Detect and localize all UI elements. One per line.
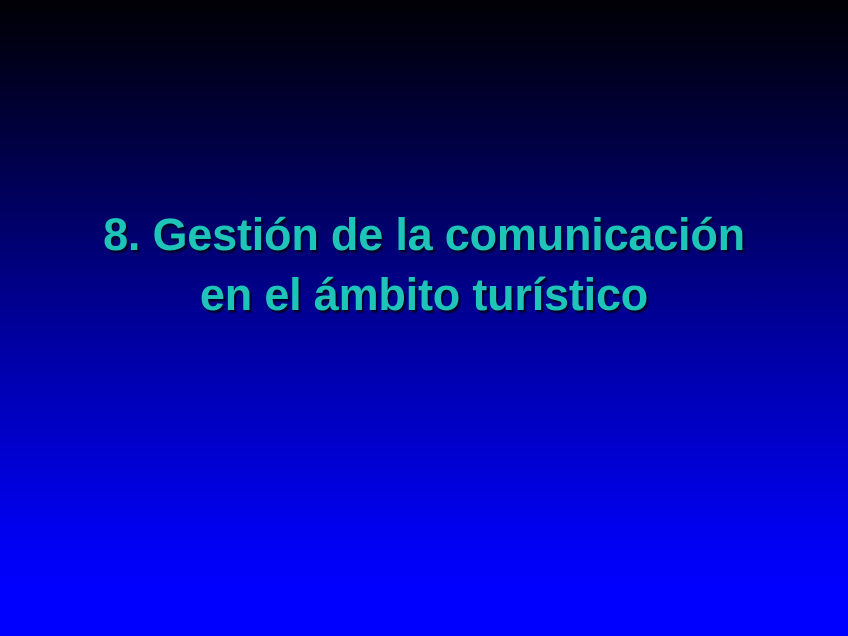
presentation-slide: 8. Gestión de la comunicación en el ámbi…	[0, 0, 848, 636]
slide-title-line-2: en el ámbito turístico	[40, 266, 808, 324]
slide-title-line-1: 8. Gestión de la comunicación	[40, 206, 808, 264]
slide-title-block: 8. Gestión de la comunicación en el ámbi…	[0, 206, 848, 324]
